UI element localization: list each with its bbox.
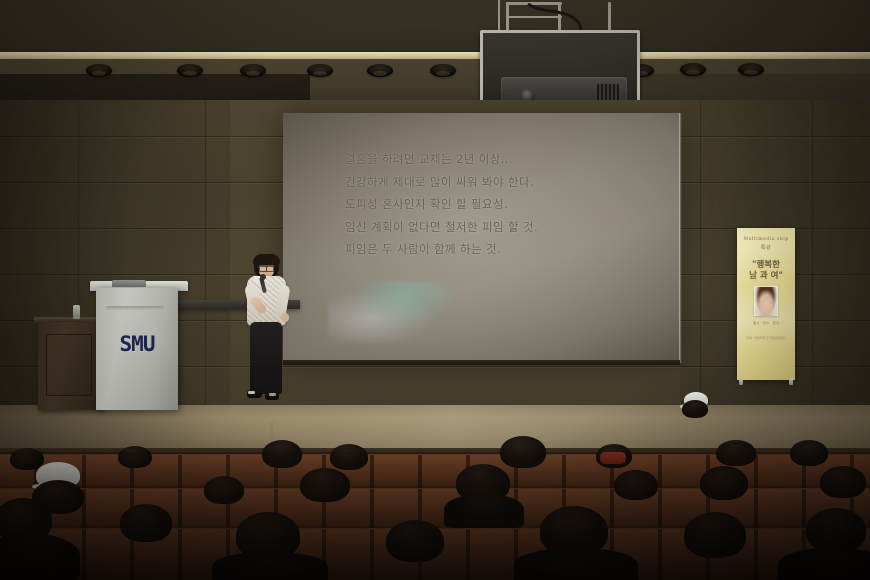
podium-slot (106, 306, 164, 311)
presenter-right-hand (281, 313, 289, 322)
ceiling-spotlight-icon (86, 64, 112, 77)
audience-head (118, 446, 152, 468)
ceiling-spotlight-icon (307, 64, 333, 77)
screen-bottom-bar (283, 360, 680, 365)
presenter-hair-fringe (253, 254, 280, 265)
water-bottle (73, 305, 80, 319)
ceiling-spotlight-icon (240, 64, 266, 77)
slide-line-3: 도피성 혼사인지 확인 할 필요성. (345, 193, 665, 216)
podium-handle (112, 280, 146, 287)
rollup-banner: Multimedia ship 특강 "행복한 남 과 여" 일시 · 장소 ·… (737, 228, 795, 380)
slide-line-5: 피임은 두 사람이 함께 하는 것. (345, 238, 665, 261)
banner-title-line-2: 남 과 여" (737, 271, 795, 282)
audience-head (500, 436, 546, 468)
ceiling-spotlight-icon (738, 63, 764, 76)
screen-right-edge (679, 113, 682, 363)
audience-shoulders (778, 548, 870, 580)
audience-head (120, 504, 172, 542)
presenter-right-shoe (265, 392, 279, 400)
audience-red-item (600, 452, 626, 464)
banner-stand (737, 378, 795, 385)
projection-screen: 결혼을 하려면 교제는 2년 이상... 건강하게 제대로 많이 싸워 봐야 한… (283, 113, 680, 363)
audience-head (684, 512, 746, 558)
presenter (238, 254, 294, 412)
ceiling-spotlight-icon (680, 63, 706, 76)
ceiling-projector-assembly (470, 0, 650, 112)
banner-title-line-1: "행복한 (737, 260, 795, 271)
projector-cage (480, 30, 640, 110)
ceiling-cornice-strip (0, 52, 870, 59)
banner-title: "행복한 남 과 여" (737, 260, 795, 282)
podium: SMU (96, 288, 178, 410)
slide-line-4: 임신 계획이 없다면 철저한 피임 할 것. (345, 216, 665, 239)
ceiling-spotlight-icon (430, 64, 456, 77)
banner-credit: 일시 · 장소 · 강사 (737, 321, 795, 326)
podium-logo: SMU (96, 332, 178, 356)
side-table (38, 322, 104, 410)
slide-line-1: 결혼을 하려면 교제는 2년 이상... (345, 148, 665, 171)
banner-top-line: Multimedia ship 특강 (737, 237, 795, 251)
slide-embedded-photo (328, 281, 453, 343)
ceiling-spotlight-icon (367, 64, 393, 77)
slide-text-block: 결혼을 하려면 교제는 2년 이상... 건강하게 제대로 많이 싸워 봐야 한… (345, 148, 665, 261)
presenter-left-shoe (247, 390, 262, 398)
audience-head (386, 520, 444, 562)
audience-head (790, 440, 828, 466)
slide-line-2: 건강하게 제대로 많이 싸워 봐야 한다. (345, 171, 665, 194)
audience-head (700, 466, 748, 500)
ceiling-spotlight-icon (177, 64, 203, 77)
audience-shoulders (514, 548, 638, 580)
banner-portrait-photo (754, 286, 778, 316)
audience-head (614, 470, 658, 500)
banner-top-sub: 특강 (737, 244, 795, 251)
audience-head (806, 508, 866, 552)
banner-fine-print: 주최 : 상명대학교 학생상담센터 (741, 336, 791, 340)
audience-shoulders (212, 552, 328, 580)
glasses-icon (259, 265, 274, 269)
audience-head (204, 476, 244, 504)
audience-shoulders (0, 534, 80, 580)
lecture-hall-photo: 결혼을 하려면 교제는 2년 이상... 건강하게 제대로 많이 싸워 봐야 한… (0, 0, 870, 580)
audience-head (262, 440, 302, 468)
audience-shoulders (444, 494, 524, 528)
audience-head (820, 466, 866, 498)
audience-head (682, 400, 708, 418)
microphone-head-icon (260, 274, 266, 280)
side-table-panel (46, 334, 92, 396)
presenter-trousers (250, 322, 282, 394)
audience-head (300, 468, 350, 502)
audience-head (330, 444, 368, 470)
audience-head (716, 440, 756, 466)
